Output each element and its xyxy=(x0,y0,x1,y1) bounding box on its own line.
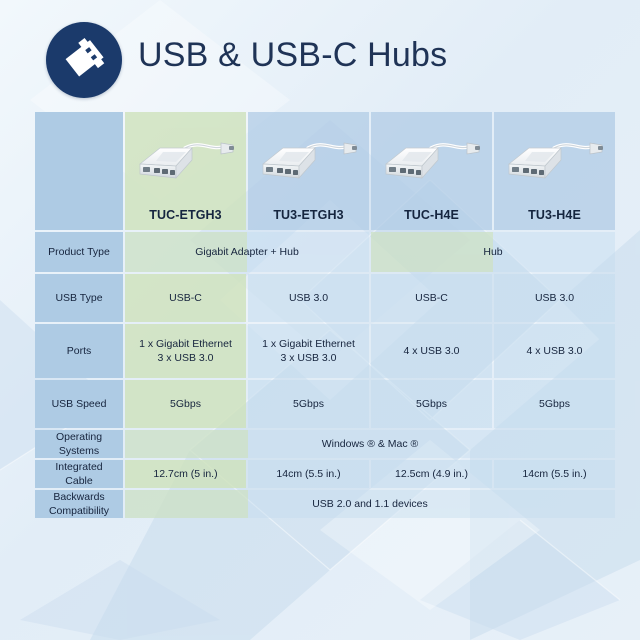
table-row: IntegratedCable12.7cm (5 in.)14cm (5.5 i… xyxy=(35,460,615,488)
table-cell: Hub xyxy=(371,232,615,272)
page-title: USB & USB-C Hubs xyxy=(138,33,447,77)
row-label-line-2: Compatibility xyxy=(39,504,119,518)
table-row: OperatingSystemsWindows ® & Mac ® xyxy=(35,430,615,458)
row-label-ports: Ports xyxy=(35,324,123,378)
table-cell: 14cm (5.5 in.) xyxy=(494,460,615,488)
table-cell: USB 2.0 and 1.1 devices xyxy=(125,490,615,518)
cell-line-1: 1 x Gigabit Ethernet xyxy=(252,337,365,351)
cell-line-2: 3 x USB 3.0 xyxy=(129,351,242,365)
usb-hub-with-cable-icon xyxy=(130,134,242,186)
row-label-product-type: Product Type xyxy=(35,232,123,272)
usb-hub-with-cable-icon xyxy=(376,134,488,186)
row-label-backwards-compatibility: BackwardsCompatibility xyxy=(35,490,123,518)
row-label-usb-type: USB Type xyxy=(35,274,123,322)
cell-text: Hub xyxy=(375,245,611,259)
product-image xyxy=(371,112,492,208)
table-corner-cell xyxy=(35,112,123,230)
table-cell: 1 x Gigabit Ethernet3 x USB 3.0 xyxy=(248,324,369,378)
row-label-line-2: Cable xyxy=(39,474,119,488)
comparison-table: TUC-ETGH3TU3-ETGH3TUC-H4ETU3-H4EProduct … xyxy=(33,110,617,520)
table-cell: 1 x Gigabit Ethernet3 x USB 3.0 xyxy=(125,324,246,378)
product-header-tu3-h4e[interactable]: TU3-H4E xyxy=(494,112,615,230)
cell-line-1: 1 x Gigabit Ethernet xyxy=(129,337,242,351)
cell-text: USB 2.0 and 1.1 devices xyxy=(129,497,611,511)
row-label-operating-systems: OperatingSystems xyxy=(35,430,123,458)
table-cell: 4 x USB 3.0 xyxy=(371,324,492,378)
cell-line-2: 3 x USB 3.0 xyxy=(252,351,365,365)
table-row: Product TypeGigabit Adapter + HubHub xyxy=(35,232,615,272)
table-row: BackwardsCompatibilityUSB 2.0 and 1.1 de… xyxy=(35,490,615,518)
product-image xyxy=(494,112,615,208)
table-header-row: TUC-ETGH3TU3-ETGH3TUC-H4ETU3-H4E xyxy=(35,112,615,230)
table-cell: Windows ® & Mac ® xyxy=(125,430,615,458)
table-cell: 12.7cm (5 in.) xyxy=(125,460,246,488)
usb-hub-with-cable-icon xyxy=(253,134,365,186)
row-label-integrated-cable: IntegratedCable xyxy=(35,460,123,488)
table-cell: 5Gbps xyxy=(371,380,492,428)
table-cell: USB-C xyxy=(125,274,246,322)
table-row: USB TypeUSB-CUSB 3.0USB-CUSB 3.0 xyxy=(35,274,615,322)
product-name: TUC-ETGH3 xyxy=(149,208,221,230)
table-cell: 5Gbps xyxy=(248,380,369,428)
product-image xyxy=(125,112,246,208)
product-header-tuc-etgh3[interactable]: TUC-ETGH3 xyxy=(125,112,246,230)
table-cell: Gigabit Adapter + Hub xyxy=(125,232,369,272)
cell-text: Gigabit Adapter + Hub xyxy=(129,245,365,259)
product-comparison-infographic: USB & USB-C Hubs TUC-ETGH3TU3-ETGH3TUC-H… xyxy=(0,0,640,640)
cell-text: Windows ® & Mac ® xyxy=(129,437,611,451)
product-name: TUC-H4E xyxy=(404,208,459,230)
brand-logo-badge xyxy=(46,22,122,98)
usb-plug-icon xyxy=(46,22,122,98)
usb-hub-with-cable-icon xyxy=(499,134,611,186)
table-cell: USB 3.0 xyxy=(248,274,369,322)
table-cell: 12.5cm (4.9 in.) xyxy=(371,460,492,488)
table-cell: USB-C xyxy=(371,274,492,322)
table-cell: USB 3.0 xyxy=(494,274,615,322)
table-cell: 5Gbps xyxy=(494,380,615,428)
product-name: TU3-ETGH3 xyxy=(273,208,343,230)
table-row: Ports1 x Gigabit Ethernet3 x USB 3.01 x … xyxy=(35,324,615,378)
row-label-line-1: Operating xyxy=(39,430,119,444)
row-label-line-1: Integrated xyxy=(39,460,119,474)
table-cell: 14cm (5.5 in.) xyxy=(248,460,369,488)
header: USB & USB-C Hubs xyxy=(0,0,640,104)
table-cell: 4 x USB 3.0 xyxy=(494,324,615,378)
product-header-tuc-h4e[interactable]: TUC-H4E xyxy=(371,112,492,230)
row-label-line-2: Systems xyxy=(39,444,119,458)
table-row: USB Speed5Gbps5Gbps5Gbps5Gbps xyxy=(35,380,615,428)
product-name: TU3-H4E xyxy=(528,208,581,230)
table-cell: 5Gbps xyxy=(125,380,246,428)
product-header-tu3-etgh3[interactable]: TU3-ETGH3 xyxy=(248,112,369,230)
product-image xyxy=(248,112,369,208)
comparison-table-wrapper: TUC-ETGH3TU3-ETGH3TUC-H4ETU3-H4EProduct … xyxy=(33,110,613,520)
row-label-line-1: Backwards xyxy=(39,490,119,504)
row-label-usb-speed: USB Speed xyxy=(35,380,123,428)
